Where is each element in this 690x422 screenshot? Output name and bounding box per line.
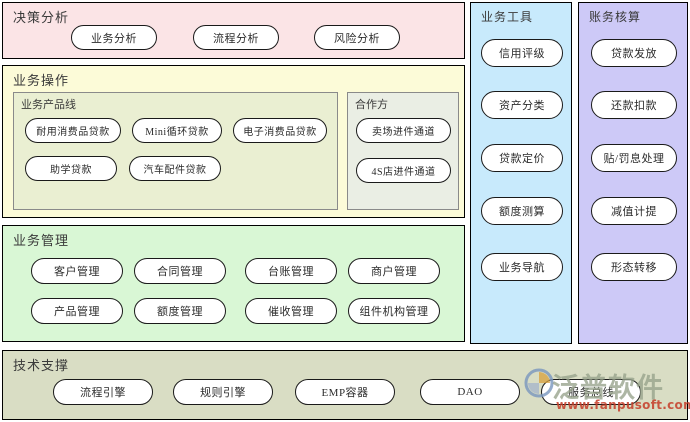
panel-title-business-tools: 业务工具 <box>481 8 533 25</box>
panel-business-operation: 业务操作 业务产品线 耐用消费品贷款 Mini循环贷款 电子消费品贷款 助学贷款… <box>2 65 465 218</box>
button-risk-analysis[interactable]: 风险分析 <box>314 25 400 50</box>
panel-title-business-management: 业务管理 <box>13 230 69 249</box>
button-interest-subsidy-penalty-processing[interactable]: 贴/罚息处理 <box>591 144 677 172</box>
panel-title-business-operation: 业务操作 <box>13 70 69 89</box>
panel-business-tools: 业务工具 信用评级 资产分类 贷款定价 额度测算 业务导航 <box>470 2 572 344</box>
button-product-management[interactable]: 产品管理 <box>31 298 123 324</box>
button-auto-parts-loan[interactable]: 汽车配件贷款 <box>129 156 221 181</box>
button-electronic-consumer-goods-loan[interactable]: 电子消费品贷款 <box>233 118 327 143</box>
button-durable-consumer-goods-loan[interactable]: 耐用消费品贷款 <box>25 118 121 143</box>
button-service-bus[interactable]: 服务总线 <box>541 379 641 405</box>
button-dao[interactable]: DAO <box>420 379 520 405</box>
subpanel-product-line: 业务产品线 耐用消费品贷款 Mini循环贷款 电子消费品贷款 助学贷款 汽车配件… <box>13 92 338 210</box>
button-student-loan[interactable]: 助学贷款 <box>25 156 117 181</box>
button-ledger-management[interactable]: 台账管理 <box>245 258 337 284</box>
button-mini-revolving-loan[interactable]: Mini循环贷款 <box>132 118 222 143</box>
button-process-engine[interactable]: 流程引擎 <box>53 379 153 405</box>
button-repayment-deduction[interactable]: 还款扣款 <box>591 91 677 119</box>
button-credit-rating[interactable]: 信用评级 <box>481 39 563 67</box>
button-component-organization-management[interactable]: 组件机构管理 <box>348 298 440 324</box>
panel-title-decision-analysis: 决策分析 <box>13 7 69 26</box>
button-merchant-management[interactable]: 商户管理 <box>348 258 440 284</box>
panel-technical-support: 技术支撑 流程引擎 规则引擎 EMP容器 DAO 服务总线 <box>2 350 688 420</box>
button-business-navigation[interactable]: 业务导航 <box>481 253 563 281</box>
button-credit-limit-calculation[interactable]: 额度测算 <box>481 197 563 225</box>
button-asset-classification[interactable]: 资产分类 <box>481 91 563 119</box>
architecture-diagram: 决策分析 业务分析 流程分析 风险分析 业务操作 业务产品线 耐用消费品贷款 M… <box>0 0 690 422</box>
subpanel-title-product-line: 业务产品线 <box>21 96 76 112</box>
panel-business-management: 业务管理 客户管理 合同管理 台账管理 商户管理 产品管理 额度管理 催收管理 … <box>2 225 465 342</box>
button-contract-management[interactable]: 合同管理 <box>134 258 226 284</box>
button-4s-shop-entry-channel[interactable]: 4S店进件通道 <box>356 158 451 183</box>
button-business-analysis[interactable]: 业务分析 <box>71 25 157 50</box>
button-loan-disbursement[interactable]: 贷款发放 <box>591 39 677 67</box>
panel-decision-analysis: 决策分析 业务分析 流程分析 风险分析 <box>2 2 465 59</box>
button-collection-management[interactable]: 催收管理 <box>245 298 337 324</box>
subpanel-title-partner: 合作方 <box>355 96 388 112</box>
button-process-analysis[interactable]: 流程分析 <box>193 25 279 50</box>
panel-title-technical-support: 技术支撑 <box>13 355 69 374</box>
button-status-transfer[interactable]: 形态转移 <box>591 253 677 281</box>
button-store-entry-channel[interactable]: 卖场进件通道 <box>356 118 451 143</box>
button-customer-management[interactable]: 客户管理 <box>31 258 123 284</box>
button-rule-engine[interactable]: 规则引擎 <box>173 379 273 405</box>
button-emp-container[interactable]: EMP容器 <box>295 379 395 405</box>
panel-accounting: 账务核算 贷款发放 还款扣款 贴/罚息处理 减值计提 形态转移 <box>578 2 688 344</box>
button-credit-limit-management[interactable]: 额度管理 <box>134 298 226 324</box>
button-loan-pricing[interactable]: 贷款定价 <box>481 144 563 172</box>
button-impairment-provision[interactable]: 减值计提 <box>591 197 677 225</box>
panel-title-accounting: 账务核算 <box>589 8 641 25</box>
subpanel-partner: 合作方 卖场进件通道 4S店进件通道 <box>347 92 459 210</box>
